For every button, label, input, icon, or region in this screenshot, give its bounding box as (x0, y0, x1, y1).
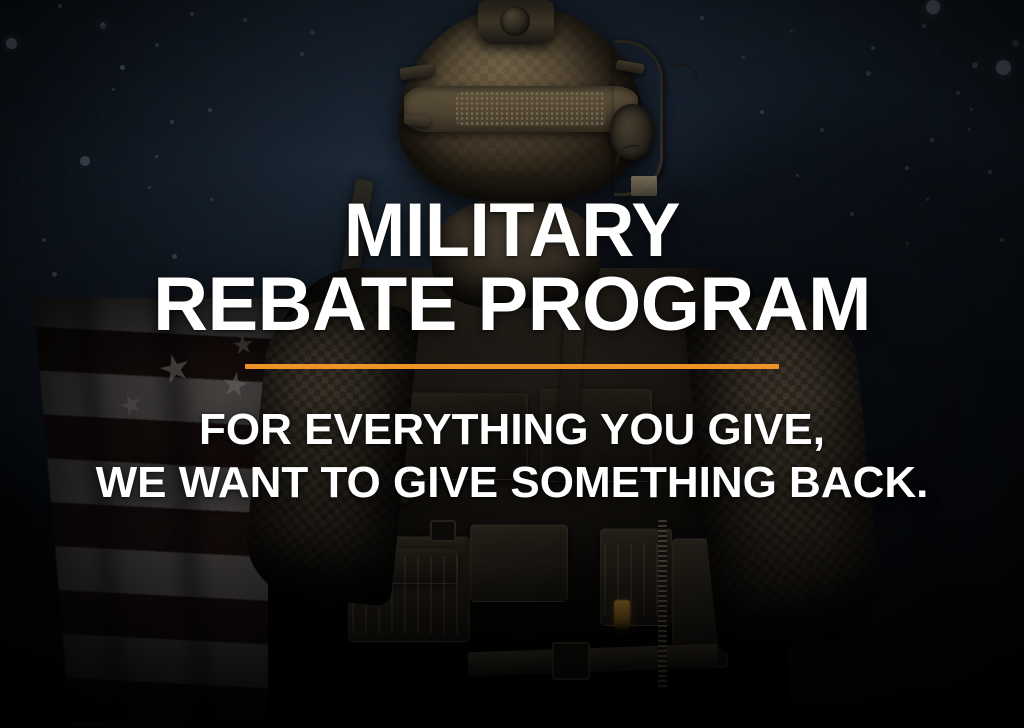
banner-content: MILITARY REBATE PROGRAM FOR EVERYTHING Y… (0, 0, 1024, 728)
military-rebate-banner: MILITARY REBATE PROGRAM FOR EVERYTHING Y… (0, 0, 1024, 728)
tagline-line-2: WE WANT TO GIVE SOMETHING BACK. (96, 456, 929, 509)
orange-divider (245, 364, 779, 369)
tagline: FOR EVERYTHING YOU GIVE, WE WANT TO GIVE… (96, 403, 929, 509)
page-title: MILITARY REBATE PROGRAM (153, 194, 871, 342)
headline-line-2: REBATE PROGRAM (153, 268, 871, 342)
tagline-line-1: FOR EVERYTHING YOU GIVE, (96, 403, 929, 456)
headline-line-1: MILITARY (164, 194, 860, 268)
